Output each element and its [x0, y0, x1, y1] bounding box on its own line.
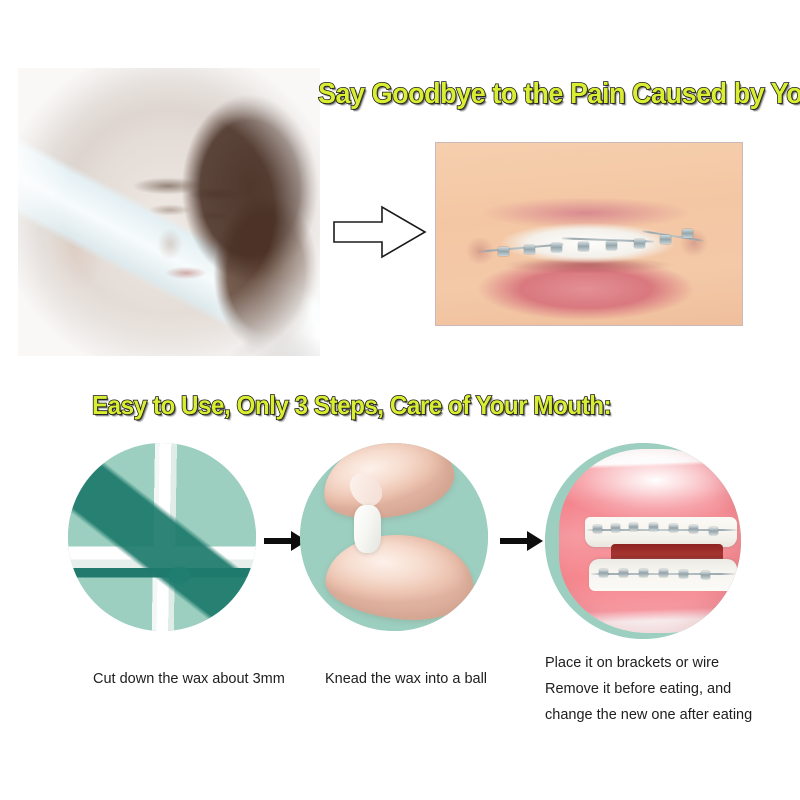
bracket: [593, 525, 602, 533]
bracket: [669, 524, 678, 532]
bracket: [682, 229, 693, 238]
dental-model-artwork: [545, 443, 741, 639]
right-arrow-outline-icon: [332, 200, 428, 264]
step-1-caption: Cut down the wax about 3mm: [93, 666, 285, 692]
bracket: [611, 524, 620, 532]
bracket: [606, 241, 617, 250]
bracket: [649, 523, 658, 531]
step-2-image: [300, 443, 488, 631]
bracket: [619, 569, 628, 577]
step-3-image: [545, 443, 741, 639]
before-photo-toothache: [18, 68, 320, 356]
step-2: [300, 443, 488, 631]
bracket: [679, 570, 688, 578]
bracket: [701, 571, 710, 579]
finger-lower: [323, 529, 478, 626]
step-2-caption-line: Knead the wax into a ball: [325, 666, 487, 692]
page-title: Say Goodbye to the Pain Caused by Your B…: [318, 78, 800, 111]
step-1-image: [68, 443, 256, 631]
bracket: [689, 525, 698, 533]
step-1-caption-line: Cut down the wax about 3mm: [93, 666, 285, 692]
step-3-caption: Place it on brackets or wire Remove it b…: [545, 650, 752, 728]
dental-model: [559, 449, 741, 633]
wax-strip-artwork: [68, 443, 256, 631]
finger-upper: [316, 443, 460, 529]
bracket: [578, 242, 589, 251]
step-2-caption: Knead the wax into a ball: [325, 666, 487, 692]
step-3: [545, 443, 741, 639]
right-arrow-icon: [500, 528, 544, 554]
wax-piece: [354, 505, 381, 553]
bracket: [498, 247, 509, 256]
fingers-artwork: [300, 443, 488, 631]
bracket: [660, 235, 671, 244]
steps-title: Easy to Use, Only 3 Steps, Care of Your …: [92, 390, 611, 421]
step-1: [68, 443, 256, 631]
bracket: [551, 243, 562, 252]
bracket: [659, 569, 668, 577]
bracket: [524, 245, 535, 254]
after-photo-braces-smile: [435, 142, 743, 326]
bracket: [709, 527, 718, 535]
bracket: [634, 239, 645, 248]
step-3-caption-line-2: Remove it before eating, and: [545, 676, 752, 702]
step-3-caption-line-3: change the new one after eating: [545, 702, 752, 728]
bracket: [599, 569, 608, 577]
bracket: [639, 569, 648, 577]
step-3-caption-line-1: Place it on brackets or wire: [545, 650, 752, 676]
bracket: [629, 523, 638, 531]
